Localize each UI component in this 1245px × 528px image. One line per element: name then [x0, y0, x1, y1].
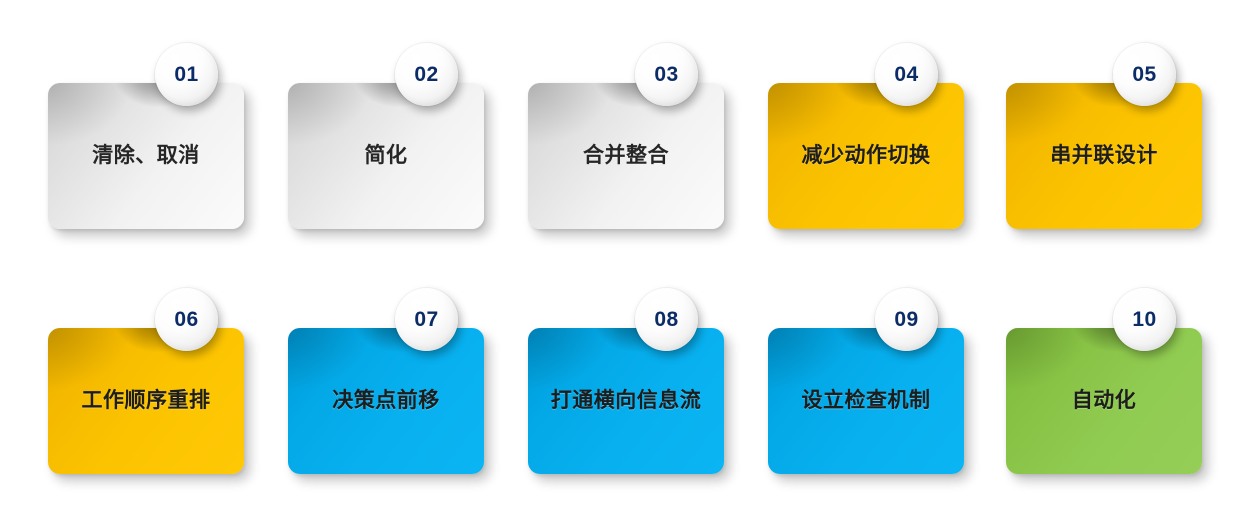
step-number-08: 08 — [654, 309, 678, 330]
card-label-09: 设立检查机制 — [802, 388, 931, 413]
card-body-10[interactable]: 自动化 — [1006, 328, 1202, 474]
step-number-badge-07[interactable]: 07 — [395, 288, 458, 351]
card-body-07[interactable]: 决策点前移 — [288, 328, 484, 474]
card-label-02: 简化 — [365, 143, 408, 168]
card-label-08: 打通横向信息流 — [551, 388, 702, 413]
step-number-09: 09 — [894, 309, 918, 330]
card-body-01[interactable]: 清除、取消 — [48, 83, 244, 229]
card-body-04[interactable]: 减少动作切换 — [768, 83, 964, 229]
step-number-02: 02 — [414, 64, 438, 85]
card-body-03[interactable]: 合并整合 — [528, 83, 724, 229]
step-number-badge-05[interactable]: 05 — [1113, 43, 1176, 106]
step-number-05: 05 — [1132, 64, 1156, 85]
step-card-03[interactable]: 合并整合03 — [528, 83, 724, 229]
step-number-badge-04[interactable]: 04 — [875, 43, 938, 106]
step-number-badge-09[interactable]: 09 — [875, 288, 938, 351]
card-label-04: 减少动作切换 — [802, 143, 931, 168]
card-body-02[interactable]: 简化 — [288, 83, 484, 229]
step-card-10[interactable]: 自动化10 — [1006, 328, 1202, 474]
card-label-06: 工作顺序重排 — [82, 388, 211, 413]
step-card-01[interactable]: 清除、取消01 — [48, 83, 244, 229]
step-card-05[interactable]: 串并联设计05 — [1006, 83, 1202, 229]
step-number-07: 07 — [414, 309, 438, 330]
step-card-06[interactable]: 工作顺序重排06 — [48, 328, 244, 474]
card-label-03: 合并整合 — [583, 143, 669, 168]
step-number-badge-02[interactable]: 02 — [395, 43, 458, 106]
step-number-04: 04 — [894, 64, 918, 85]
card-label-07: 决策点前移 — [332, 388, 440, 413]
card-body-09[interactable]: 设立检查机制 — [768, 328, 964, 474]
step-number-10: 10 — [1132, 309, 1156, 330]
card-label-10: 自动化 — [1072, 388, 1137, 413]
step-number-01: 01 — [174, 64, 198, 85]
step-number-03: 03 — [654, 64, 678, 85]
card-body-06[interactable]: 工作顺序重排 — [48, 328, 244, 474]
card-body-08[interactable]: 打通横向信息流 — [528, 328, 724, 474]
step-number-badge-08[interactable]: 08 — [635, 288, 698, 351]
step-number-badge-10[interactable]: 10 — [1113, 288, 1176, 351]
card-label-01: 清除、取消 — [92, 143, 200, 168]
step-card-04[interactable]: 减少动作切换04 — [768, 83, 964, 229]
infographic-canvas: 清除、取消01简化02合并整合03减少动作切换04串并联设计05工作顺序重排06… — [0, 0, 1245, 528]
step-number-06: 06 — [174, 309, 198, 330]
step-card-02[interactable]: 简化02 — [288, 83, 484, 229]
step-number-badge-01[interactable]: 01 — [155, 43, 218, 106]
step-card-07[interactable]: 决策点前移07 — [288, 328, 484, 474]
step-number-badge-06[interactable]: 06 — [155, 288, 218, 351]
card-body-05[interactable]: 串并联设计 — [1006, 83, 1202, 229]
step-number-badge-03[interactable]: 03 — [635, 43, 698, 106]
step-card-08[interactable]: 打通横向信息流08 — [528, 328, 724, 474]
step-card-09[interactable]: 设立检查机制09 — [768, 328, 964, 474]
card-label-05: 串并联设计 — [1050, 143, 1158, 168]
